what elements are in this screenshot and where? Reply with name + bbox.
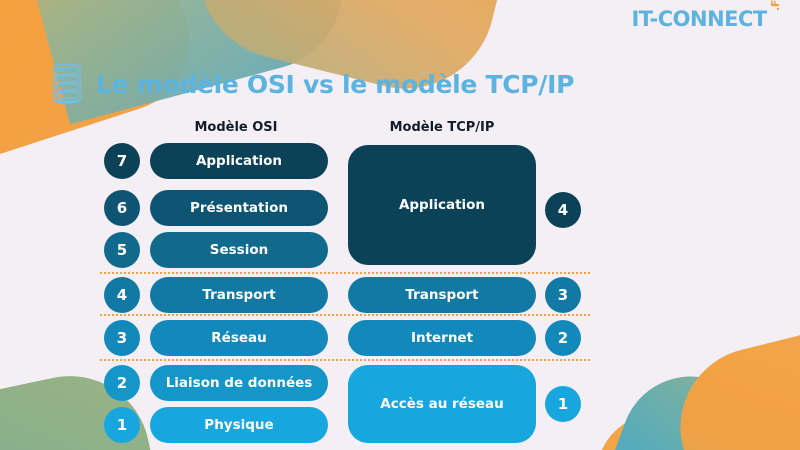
osi-layer-bar-2[interactable]: Liaison de données <box>150 365 328 401</box>
decor-shape-bottom-right-orange-small <box>579 396 754 450</box>
osi-layer-bar-3[interactable]: Réseau <box>150 320 328 356</box>
osi-layer-row[interactable]: 4Transport <box>104 277 328 313</box>
page-title: Le modèle OSI vs le modèle TCP/IP <box>96 70 574 99</box>
title-row: Le modèle OSI vs le modèle TCP/IP <box>52 64 574 104</box>
layer-separator-2 <box>100 314 590 316</box>
brand-logo-name: IT-CONNECT <box>631 9 766 30</box>
server-rack-icon <box>52 64 82 104</box>
slide-canvas: IT-CONNECT .FR <box>0 0 800 450</box>
osi-layer-row[interactable]: 5Session <box>104 232 328 268</box>
osi-layer-number-3: 3 <box>104 320 140 356</box>
decor-shape-bottom-right-orange <box>664 314 800 450</box>
osi-layer-number-1: 1 <box>104 407 140 443</box>
tcpip-layer-bar-4[interactable]: Application <box>348 145 536 265</box>
osi-layer-number-2: 2 <box>104 365 140 401</box>
osi-layer-row[interactable]: 7Application <box>104 143 328 179</box>
column-header-osi: Modèle OSI <box>145 120 327 135</box>
osi-layer-bar-7[interactable]: Application <box>150 143 328 179</box>
column-header-tcpip: Modèle TCP/IP <box>348 120 536 135</box>
tcpip-layer-bar-2[interactable]: Internet <box>348 320 536 356</box>
osi-layer-row[interactable]: 6Présentation <box>104 190 328 226</box>
tcpip-layer-number-4: 4 <box>545 192 581 228</box>
osi-layer-bar-6[interactable]: Présentation <box>150 190 328 226</box>
osi-layer-bar-1[interactable]: Physique <box>150 407 328 443</box>
osi-layer-row[interactable]: 3Réseau <box>104 320 328 356</box>
tcpip-layer-bar-3[interactable]: Transport <box>348 277 536 313</box>
tcpip-layer-number-1: 1 <box>545 386 581 422</box>
osi-layer-bar-4[interactable]: Transport <box>150 277 328 313</box>
osi-layer-number-5: 5 <box>104 232 140 268</box>
brand-logo-tld: .FR <box>770 0 781 11</box>
decor-shape-bottom-right-teal <box>598 357 800 450</box>
osi-layer-row[interactable]: 1Physique <box>104 407 328 443</box>
osi-layer-number-7: 7 <box>104 143 140 179</box>
osi-layer-number-6: 6 <box>104 190 140 226</box>
tcpip-layer-bar-1[interactable]: Accès au réseau <box>348 365 536 443</box>
tcpip-layer-number-2: 2 <box>545 320 581 356</box>
layer-separator-1 <box>100 272 590 274</box>
tcpip-layer-number-3: 3 <box>545 277 581 313</box>
osi-layer-row[interactable]: 2Liaison de données <box>104 365 328 401</box>
decor-shape-top-left-teal <box>0 0 360 124</box>
osi-layer-number-4: 4 <box>104 277 140 313</box>
layer-separator-3 <box>100 359 590 361</box>
brand-logo: IT-CONNECT .FR <box>631 9 786 39</box>
osi-layer-bar-5[interactable]: Session <box>150 232 328 268</box>
